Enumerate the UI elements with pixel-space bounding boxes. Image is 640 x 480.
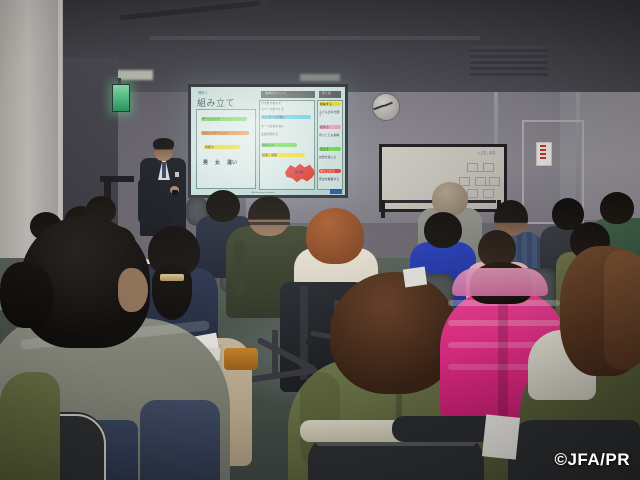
presenter-arm-right [172,178,185,224]
whiteboard-sketch-line [478,185,490,186]
person-head [330,272,458,394]
person-head [432,182,468,216]
chair-caster [306,338,313,345]
hair-ponytail [152,264,192,320]
whiteboard-sketch-box [489,177,500,186]
whiteboard-sketch-box [483,163,494,172]
whiteboard-sketch-box [467,189,478,198]
presenter-badge [175,172,179,177]
handout-paper [482,414,520,459]
puffer-center-seam [498,292,508,418]
person-head [600,192,634,224]
person-legs [140,400,220,480]
presenter-tie [162,162,166,178]
person-head [248,196,290,236]
presenter-hair [153,138,174,149]
presentation-remote [172,190,178,195]
wall-notice-sign-text [540,145,546,161]
person-head [0,262,54,328]
photograph-seminar-room: 資料１ 組み立て 指導のポイント まとめ チームづくり コミュニケーション 判断… [0,0,640,480]
copyright-watermark: ©JFA/PR [554,450,630,470]
eyeglasses-arm [248,222,290,225]
emergency-exit-sign-icon [112,84,130,112]
chair-post [272,330,278,378]
person-head [424,212,462,248]
whiteboard-sketch-box [483,189,494,198]
presenter-arm-left [138,178,151,224]
screen-glare [191,87,345,195]
whiteboard-note-text: ~/5:45 [476,151,496,157]
person-ear-cheek [118,268,148,312]
ceiling-vent-right [470,46,548,76]
person-arm [234,240,244,296]
ceiling-seam [150,36,480,40]
projection-screen: 資料１ 組み立て 指導のポイント まとめ チームづくり コミュニケーション 判断… [188,84,348,198]
person-body [0,372,60,480]
hair-strands [604,250,640,370]
whiteboard-leg [381,200,385,218]
handout-paper [403,267,427,288]
bag-on-floor [224,348,258,370]
hood-collar [452,268,548,296]
hair-clip [160,274,184,281]
ceiling-light-fixture-2 [300,74,340,81]
person-head [306,208,364,264]
person-head [206,190,240,222]
whiteboard-sketch-line [474,171,484,172]
